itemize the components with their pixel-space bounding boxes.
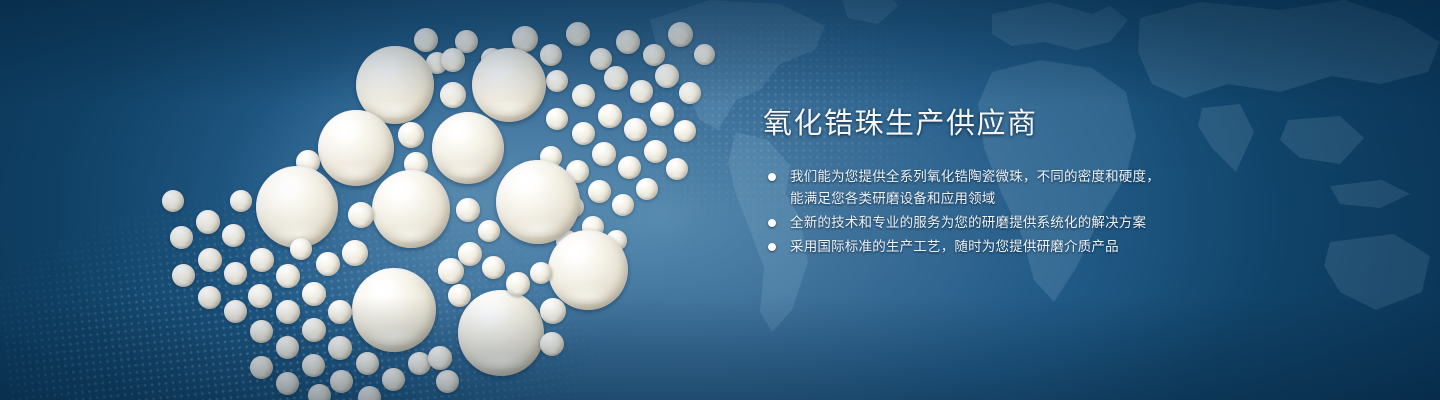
banner-bullet-item: 我们能为您提供全系列氧化锆陶瓷微珠，不同的密度和硬度， 能满足您各类研磨设备和应… xyxy=(763,166,1233,210)
banner-bullet-list: 我们能为您提供全系列氧化锆陶瓷微珠，不同的密度和硬度， 能满足您各类研磨设备和应… xyxy=(763,166,1233,258)
bullet-text-line2: 能满足您各类研磨设备和应用领域 xyxy=(790,188,1233,210)
bullet-dot-icon xyxy=(768,173,776,181)
bullet-text-line1: 我们能为您提供全系列氧化锆陶瓷微珠，不同的密度和硬度， xyxy=(790,169,1160,184)
bullet-dot-icon xyxy=(768,243,776,251)
banner-bullet-item: 采用国际标准的生产工艺，随时为您提供研磨介质产品 xyxy=(763,236,1233,258)
bullet-dot-icon xyxy=(768,219,776,227)
bullet-text-line1: 全新的技术和专业的服务为您的研磨提供系统化的解决方案 xyxy=(790,215,1146,230)
banner-bullet-item: 全新的技术和专业的服务为您的研磨提供系统化的解决方案 xyxy=(763,212,1233,234)
banner-text-block: 氧化锆珠生产供应商 我们能为您提供全系列氧化锆陶瓷微珠，不同的密度和硬度， 能满… xyxy=(763,104,1233,260)
hero-banner: 氧化锆珠生产供应商 我们能为您提供全系列氧化锆陶瓷微珠，不同的密度和硬度， 能满… xyxy=(0,0,1440,400)
bullet-text-line1: 采用国际标准的生产工艺，随时为您提供研磨介质产品 xyxy=(790,239,1119,254)
banner-headline: 氧化锆珠生产供应商 xyxy=(763,104,1233,144)
